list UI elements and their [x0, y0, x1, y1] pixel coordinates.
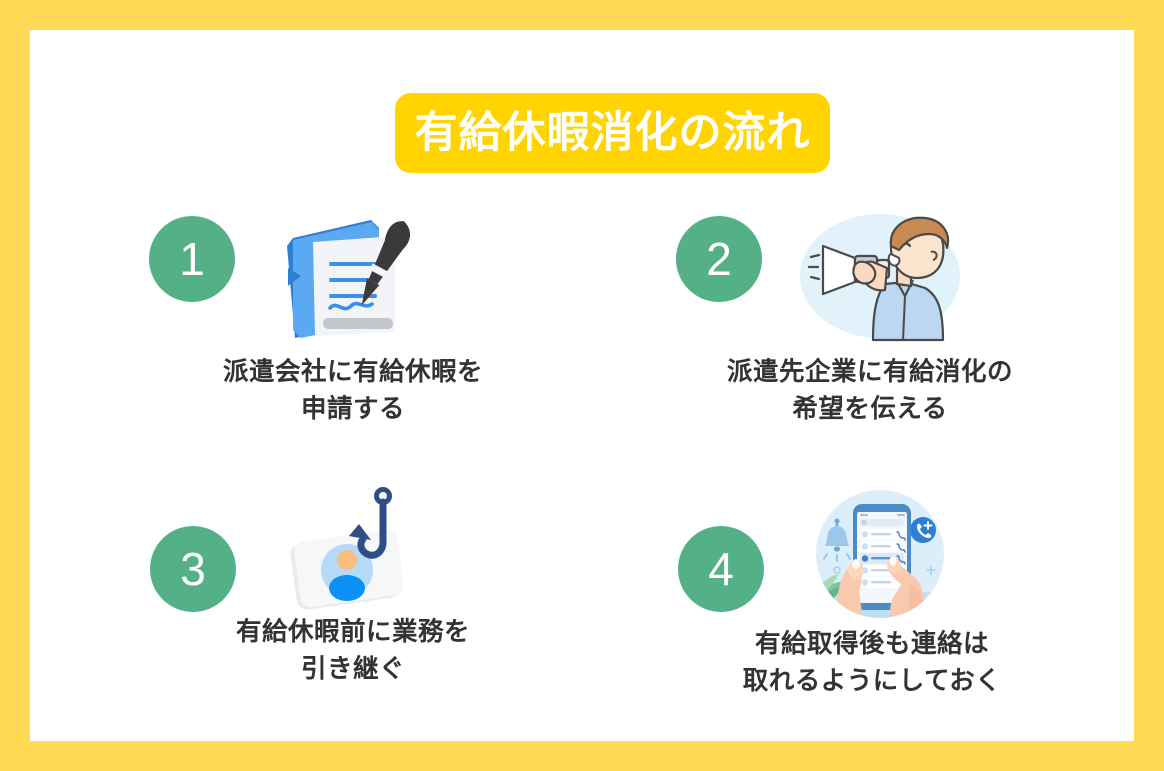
handover-hook-card-icon [283, 480, 428, 612]
step-number-badge-3: 3 [150, 526, 236, 612]
step-number-1: 1 [179, 236, 205, 282]
megaphone-person-icon [793, 212, 968, 342]
step-label-1-line1: 派遣会社に有給休暇を [143, 354, 563, 391]
step-label-4-line2: 取れるようにしておく [662, 663, 1082, 700]
step-number-3: 3 [180, 546, 206, 592]
step-number-badge-1: 1 [149, 216, 235, 302]
step-label-2: 派遣先企業に有給消化の 希望を伝える [660, 354, 1080, 428]
step-label-3-line1: 有給休暇前に業務を [143, 614, 563, 651]
infographic-canvas: 有給休暇消化の流れ 1 [30, 30, 1134, 741]
infographic-root: 有給休暇消化の流れ 1 [0, 0, 1164, 771]
step-label-2-line1: 派遣先企業に有給消化の [660, 354, 1080, 391]
step-label-3-line2: 引き継ぐ [143, 651, 563, 688]
step-label-4-line1: 有給取得後も連絡は [662, 626, 1082, 663]
step-label-1-line2: 申請する [143, 391, 563, 428]
step-number-2: 2 [706, 236, 732, 282]
step-number-4: 4 [708, 546, 734, 592]
step-label-4: 有給取得後も連絡は 取れるようにしておく [662, 626, 1082, 700]
smartphone-contacts-icon [805, 488, 955, 620]
page-title: 有給休暇消化の流れ [415, 112, 811, 155]
step-label-1: 派遣会社に有給休暇を 申請する [143, 354, 563, 428]
document-pen-icon [275, 210, 425, 350]
step-label-2-line2: 希望を伝える [660, 391, 1080, 428]
step-number-badge-2: 2 [676, 216, 762, 302]
step-label-3: 有給休暇前に業務を 引き継ぐ [143, 614, 563, 688]
page-title-badge: 有給休暇消化の流れ [395, 93, 830, 173]
step-number-badge-4: 4 [678, 526, 764, 612]
